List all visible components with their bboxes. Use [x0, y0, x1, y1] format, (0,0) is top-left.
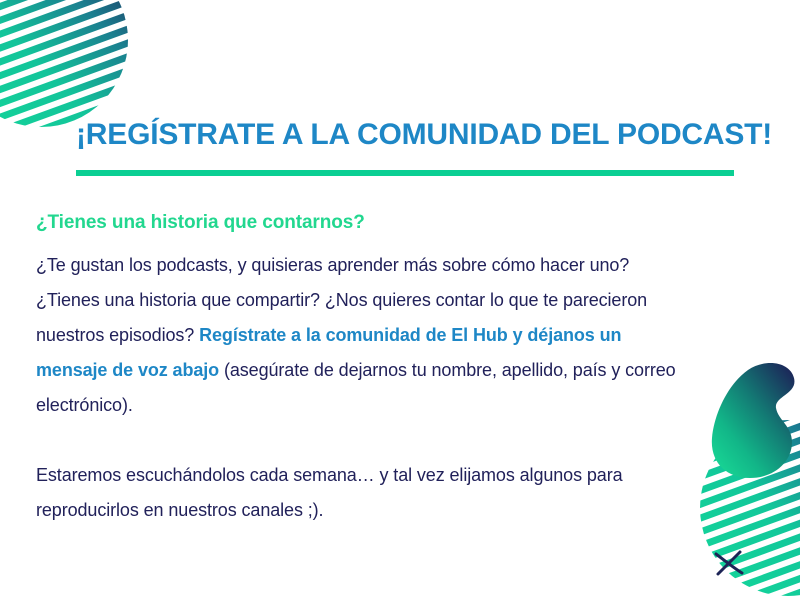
- paragraph-spacer: [36, 423, 696, 458]
- teardrop-blob-icon: [706, 358, 800, 480]
- subheading: ¿Tienes una historia que contarnos?: [36, 212, 696, 234]
- x-mark-icon: [712, 548, 746, 578]
- slide-canvas: ¡REGÍSTRATE A LA COMUNIDAD DEL PODCAST! …: [0, 0, 800, 600]
- title-divider: [76, 170, 734, 176]
- paragraph-secondary: Estaremos escuchándolos cada semana… y t…: [36, 458, 696, 528]
- page-title: ¡REGÍSTRATE A LA COMUNIDAD DEL PODCAST!: [76, 118, 756, 152]
- title-block: ¡REGÍSTRATE A LA COMUNIDAD DEL PODCAST!: [76, 118, 756, 152]
- paragraph-primary: ¿Te gustan los podcasts, y quisieras apr…: [36, 248, 696, 423]
- content-block: ¿Tienes una historia que contarnos? ¿Te …: [36, 212, 696, 528]
- striped-circle-top-icon: [0, 0, 128, 127]
